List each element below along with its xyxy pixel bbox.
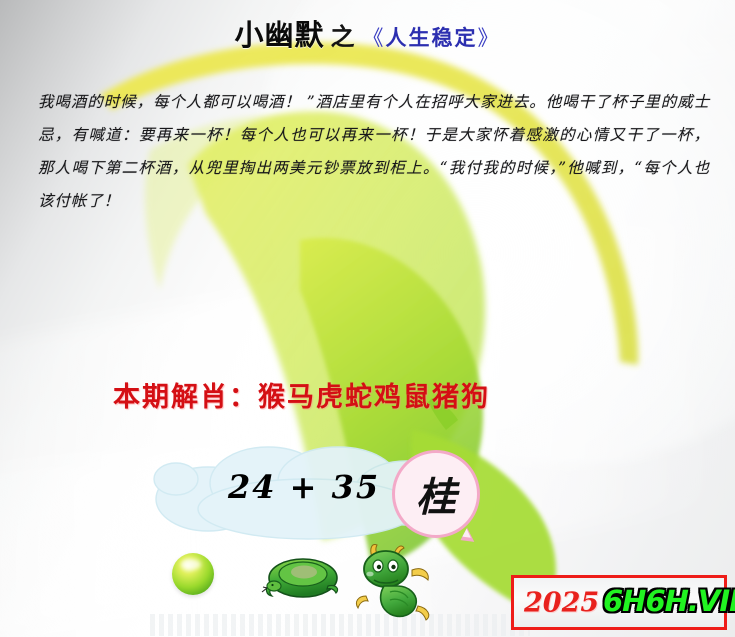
title-subtitle: 《人生稳定》 <box>363 26 501 50</box>
bracket-open: 《 <box>363 26 386 50</box>
answer-character: 桂 <box>392 450 480 538</box>
humor-poster: 小幽默之《人生稳定》 我喝酒的时候，每个人都可以喝酒！ ”酒店里有个人在招呼大家… <box>0 0 735 637</box>
answer-speech-bubble: 桂 <box>392 450 480 538</box>
page-title: 小幽默之《人生稳定》 <box>0 12 735 54</box>
forecast-line: 本期解肖：猴马虎蛇鸡鼠猪狗 <box>113 375 490 414</box>
title-main-text: 小幽默 <box>234 18 324 52</box>
title-connector: 之 <box>331 23 355 51</box>
story-paragraph: 我喝酒的时候，每个人都可以喝酒！ ”酒店里有个人在招呼大家进去。他喝干了杯子里的… <box>38 86 710 218</box>
issue-number-text: 2025 <box>524 587 599 618</box>
bracket-close: 》 <box>478 26 501 50</box>
site-watermark: 6H6H.VIP <box>603 584 735 618</box>
title-subtitle-text: 人生稳定 <box>386 26 478 50</box>
